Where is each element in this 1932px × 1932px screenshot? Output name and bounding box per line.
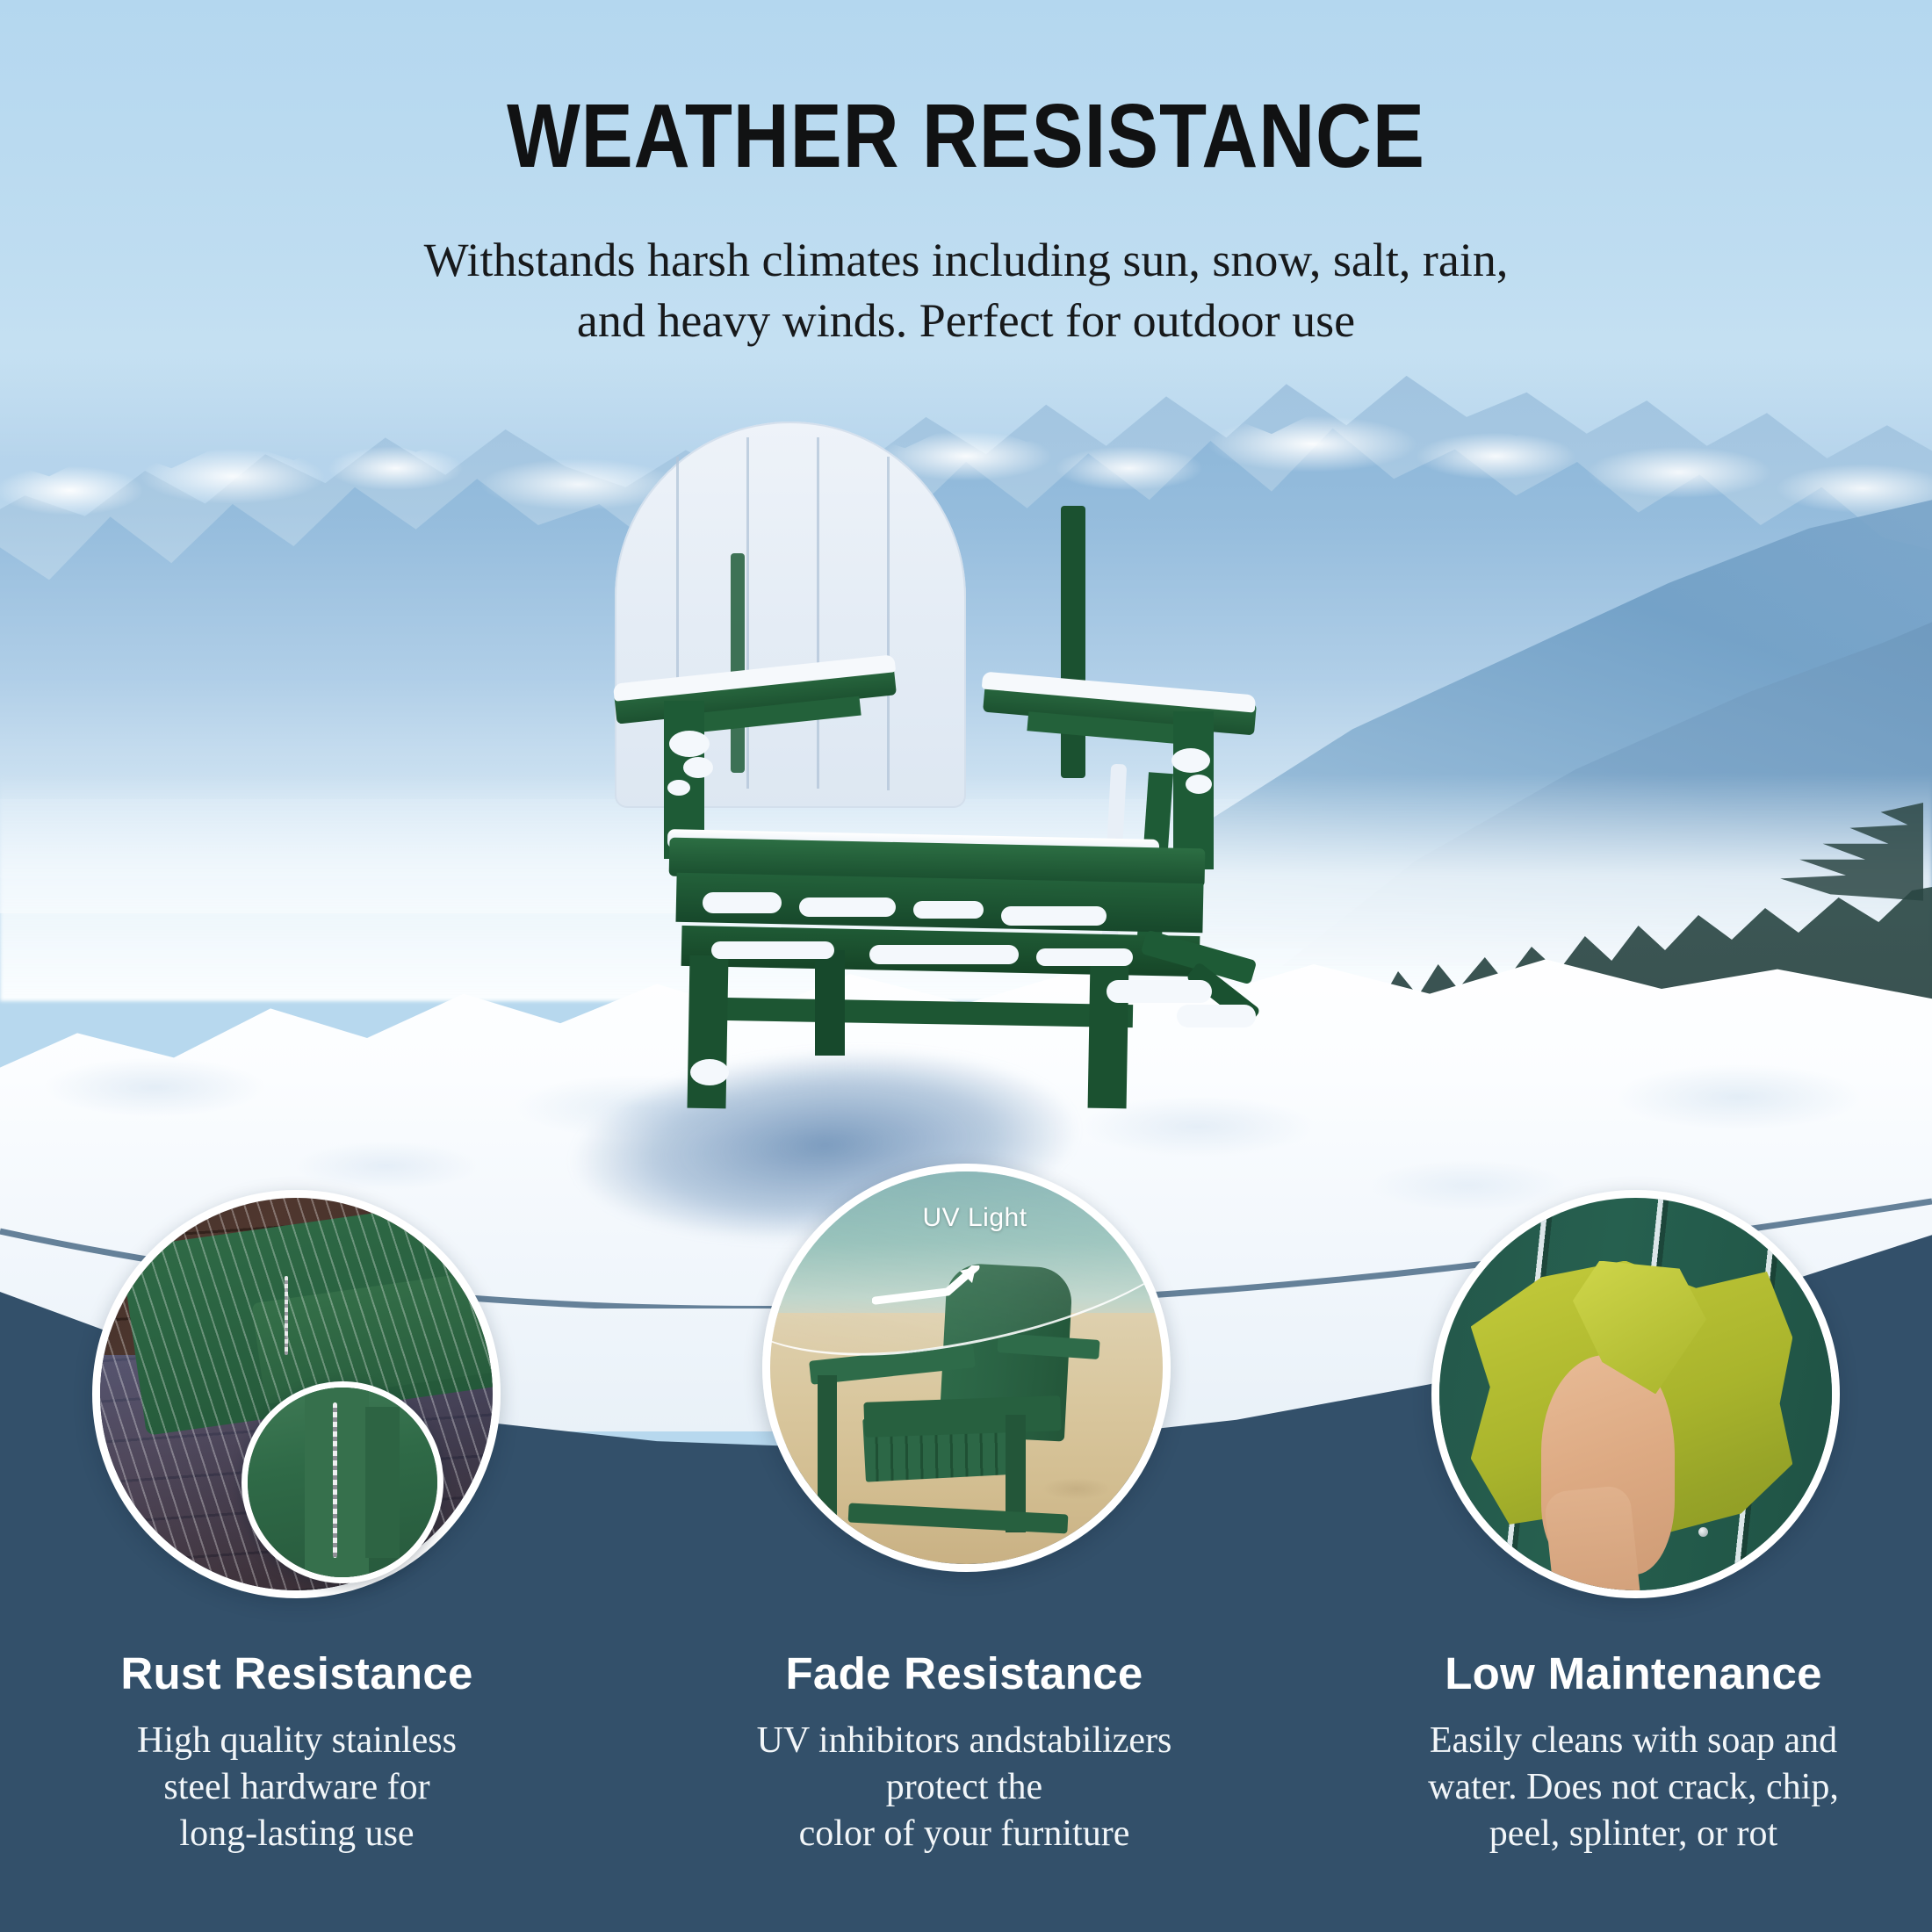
product-feature-graphic: UV Light WEATHER RESISTANCE Withstands h… [0, 0, 1932, 1932]
snow-blob [1107, 980, 1212, 1003]
feature-text-rust-resistance: Rust Resistance High quality stainless s… [33, 1649, 560, 1857]
chair-stretcher [720, 998, 1133, 1027]
feature-body-line: steel hardware for [33, 1764, 560, 1811]
snow-blob [1186, 775, 1212, 794]
inset-chair-post-secondary [365, 1407, 400, 1559]
feature-title: Low Maintenance [1370, 1649, 1897, 1698]
inset-stainless-chain [333, 1402, 337, 1558]
snow-blob [690, 1059, 729, 1085]
hero-adirondack-chair [615, 422, 1265, 1107]
feature-image-fade-resistance: UV Light [762, 1164, 1171, 1572]
feature-body-line: long-lasting use [33, 1811, 560, 1857]
snow-blob [913, 901, 984, 919]
snow-blob [799, 898, 896, 917]
feature-body-line: protect the [701, 1764, 1228, 1811]
feature-body-line: water. Does not crack, chip, [1370, 1764, 1897, 1811]
feature-body-line: Easily cleans with soap and [1370, 1718, 1897, 1764]
feature-title: Rust Resistance [33, 1649, 560, 1698]
feature-body-line: High quality stainless [33, 1718, 560, 1764]
snow-blob [703, 892, 782, 913]
snow-blob [1171, 748, 1210, 773]
chair-leg-front-left [687, 955, 728, 1109]
chair-back-seam [817, 437, 819, 789]
feature-image-low-maintenance [1431, 1190, 1840, 1598]
snow-blob [1177, 1005, 1256, 1027]
beach-chair-leg-left [818, 1375, 837, 1517]
feature-text-low-maintenance: Low Maintenance Easily cleans with soap … [1370, 1649, 1897, 1857]
feature-body-line: peel, splinter, or rot [1370, 1811, 1897, 1857]
chair-leg-back-left [815, 950, 845, 1056]
snow-blob [711, 941, 834, 959]
page-title: WEATHER RESISTANCE [135, 90, 1797, 182]
feature-body: High quality stainless steel hardware fo… [33, 1718, 560, 1857]
uv-light-arrow-icon [872, 1265, 1004, 1318]
feature-body: Easily cleans with soap and water. Does … [1370, 1718, 1897, 1857]
subtitle-line: and heavy winds. Perfect for outdoor use [0, 291, 1932, 351]
snow-blob [683, 757, 713, 778]
subtitle-line: Withstands harsh climates including sun,… [0, 230, 1932, 291]
chair-back-right-rail [1061, 506, 1085, 778]
snow-blob [669, 731, 710, 757]
feature-body-line: UV inhibitors andstabilizers [701, 1718, 1228, 1764]
magnified-chain-inset [241, 1381, 443, 1583]
feature-text-fade-resistance: Fade Resistance UV inhibitors andstabili… [701, 1649, 1228, 1857]
feature-body: UV inhibitors andstabilizers protect the… [701, 1718, 1228, 1857]
chair-back-seam [887, 457, 890, 790]
snow-blob [1001, 906, 1107, 926]
beach-chair-seat [864, 1395, 1062, 1438]
uv-light-label: UV Light [922, 1203, 1027, 1233]
snow-blob [667, 780, 690, 796]
wrist [1543, 1484, 1641, 1598]
feature-body-line: color of your furniture [701, 1811, 1228, 1857]
page-subtitle: Withstands harsh climates including sun,… [0, 230, 1932, 351]
chair-back-seam [746, 437, 749, 789]
feature-title: Fade Resistance [701, 1649, 1228, 1698]
snow-blob [869, 945, 1019, 964]
chair-back-left-rail [731, 553, 745, 773]
snow-blob [1036, 948, 1133, 966]
